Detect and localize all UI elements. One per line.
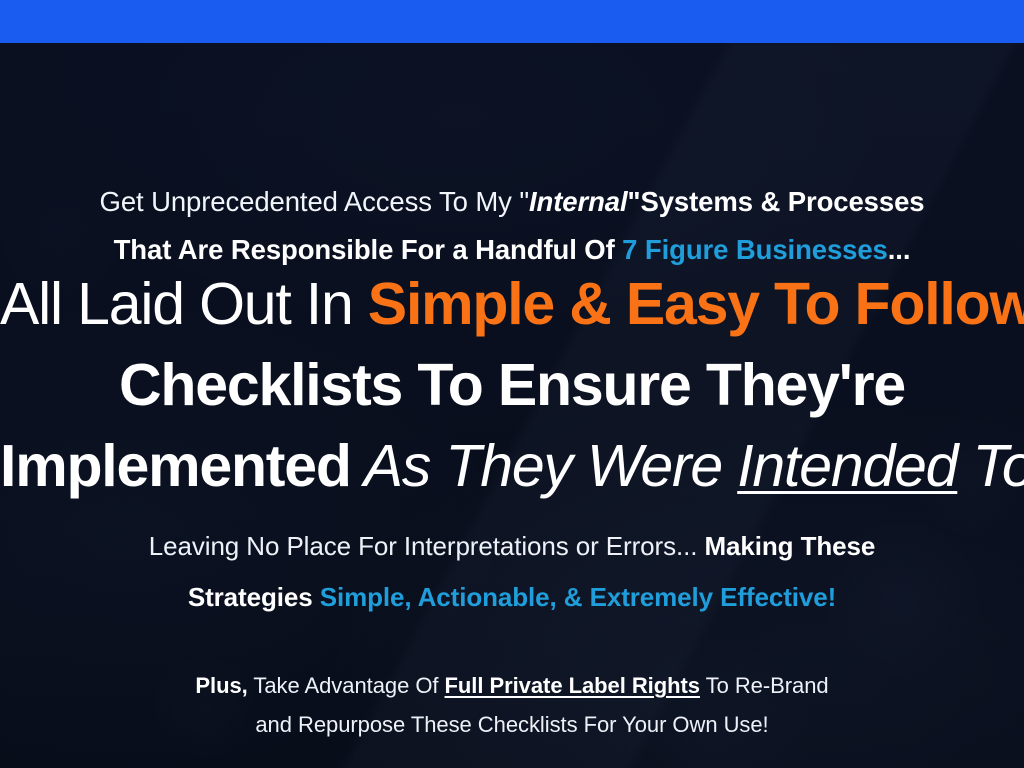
subhead-line-1-lead: Leaving No Place For Interpretations or … bbox=[149, 531, 705, 561]
headline-line-5-as-they-were: As They Were bbox=[351, 433, 738, 499]
headline-line-1-internal-emphasis: Internal bbox=[529, 186, 628, 217]
subhead-line-1-bold-tail: Making These bbox=[704, 531, 875, 561]
headline-line-2: That Are Responsible For a Handful Of 7 … bbox=[0, 236, 1024, 264]
headline-line-5: Implemented As They Were Intended To bbox=[0, 437, 1024, 496]
subhead-line-2-blue-emphasis: Simple, Actionable, & Extremely Effectiv… bbox=[320, 582, 836, 612]
headline-line-2-lead: That Are Responsible For a Handful Of bbox=[114, 234, 623, 265]
top-blue-bar bbox=[0, 0, 1024, 43]
footer-note-plr-emphasis: Full Private Label Rights bbox=[445, 673, 700, 698]
subhead-line-2-strategies: Strategies bbox=[188, 582, 320, 612]
headline-line-5-tail: To bbox=[957, 433, 1024, 499]
headline-line-1-quote-close: " bbox=[628, 186, 641, 217]
headline-line-1-lead: Get Unprecedented Access To My " bbox=[100, 186, 529, 217]
footer-note-line-2-text: and Repurpose These Checklists For Your … bbox=[255, 712, 768, 737]
headline-line-2-ellipsis: ... bbox=[888, 234, 911, 265]
subhead-line-2: Strategies Simple, Actionable, & Extreme… bbox=[0, 584, 1024, 610]
footer-note-plus-label: Plus, bbox=[195, 673, 247, 698]
subhead-line-1: Leaving No Place For Interpretations or … bbox=[0, 533, 1024, 559]
headline-line-4: Checklists To Ensure They're bbox=[0, 356, 1024, 415]
headline-line-1: Get Unprecedented Access To My "Internal… bbox=[0, 188, 1024, 216]
footer-note-line-1: Plus, Take Advantage Of Full Private Lab… bbox=[0, 675, 1024, 697]
headline-line-1-tail: Systems & Processes bbox=[640, 186, 924, 217]
headline-line-2-blue-emphasis: 7 Figure Businesses bbox=[622, 234, 888, 265]
headline-line-3-lead: All Laid Out In bbox=[0, 271, 368, 337]
footer-note-line-1-lead: Take Advantage Of bbox=[248, 673, 445, 698]
headline-line-5-implemented: Implemented bbox=[0, 433, 351, 499]
headline-section: Get Unprecedented Access To My "Internal… bbox=[0, 43, 1024, 768]
footer-note-line-2: and Repurpose These Checklists For Your … bbox=[0, 714, 1024, 736]
headline-line-3: All Laid Out In Simple & Easy To Follow bbox=[0, 275, 1024, 334]
headline-line-3-orange-emphasis: Simple & Easy To Follow bbox=[368, 271, 1024, 337]
headline-line-5-intended-underlined: Intended bbox=[737, 433, 957, 499]
headline-line-4-text: Checklists To Ensure They're bbox=[119, 352, 905, 418]
footer-note-line-1-tail: To Re-Brand bbox=[700, 673, 829, 698]
